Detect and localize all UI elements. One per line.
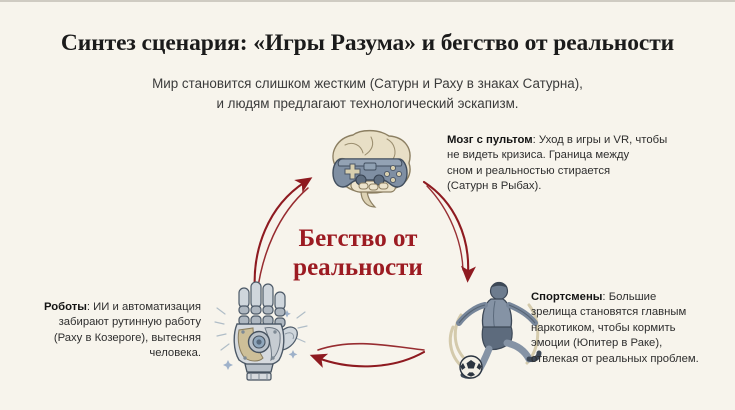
annotation-robot-line-4: человека. [8, 346, 201, 361]
annotation-brain-line-2: не видеть кризиса. Граница между [447, 148, 733, 163]
annotation-sport-text-1: : Большие [602, 291, 656, 303]
annotation-brain-text-1: : Уход в игры и VR, чтобы [533, 134, 668, 146]
annotation-brain: Мозг с пультом: Уход в игры и VR, чтобы … [447, 133, 733, 195]
annotation-robot: Роботы: ИИ и автоматизация забирают рути… [8, 300, 201, 362]
annotation-brain-line-3: сном и реальностью стирается [447, 164, 733, 179]
infographic-slide: Синтез сценария: «Игры Разума» и бегство… [0, 0, 735, 410]
annotation-sport-line-1: Спортсмены: Большие [531, 290, 735, 305]
center-label-line-1: Бегство от [268, 224, 448, 253]
annotation-sport-line-5: отвлекая от реальных проблем. [531, 352, 735, 367]
annotation-robot-line-2: забирают рутинную работу [8, 315, 201, 330]
annotation-brain-heading: Мозг с пультом [447, 134, 533, 146]
brain-with-gamepad-icon [309, 123, 429, 209]
annotation-sport-line-4: эмоции (Юпитер в Раке), [531, 336, 735, 351]
annotation-robot-heading: Роботы [44, 301, 87, 313]
annotation-brain-line-1: Мозг с пультом: Уход в игры и VR, чтобы [447, 133, 733, 148]
annotation-robot-line-3: (Раху в Козероге), вытесняя [8, 331, 201, 346]
page-title: Синтез сценария: «Игры Разума» и бегство… [0, 30, 735, 57]
annotation-sport-heading: Спортсмены [531, 291, 602, 303]
annotation-robot-text-1: : ИИ и автоматизация [87, 301, 201, 313]
center-label-line-2: реальности [268, 253, 448, 282]
node-brain-with-gamepad [309, 123, 429, 209]
annotation-sport-line-3: наркотиком, чтобы кормить [531, 321, 735, 336]
robotic-hand-icon [213, 274, 309, 386]
annotation-robot-line-1: Роботы: ИИ и автоматизация [8, 300, 201, 315]
annotation-brain-line-4: (Сатурн в Рыбах). [447, 179, 733, 194]
subtitle-line-2: и людям предлагают технологический эскап… [0, 94, 735, 114]
page-subtitle: Мир становится слишком жестким (Сатурн и… [0, 74, 735, 113]
node-robotic-hand [213, 274, 309, 386]
annotation-sport-line-2: зрелища становятся главным [531, 305, 735, 320]
center-label: Бегство от реальности [268, 224, 448, 282]
arrow-sport-to-robot [318, 344, 424, 367]
annotation-sport: Спортсмены: Большие зрелища становятся г… [531, 290, 735, 367]
subtitle-line-1: Мир становится слишком жестким (Сатурн и… [0, 74, 735, 94]
